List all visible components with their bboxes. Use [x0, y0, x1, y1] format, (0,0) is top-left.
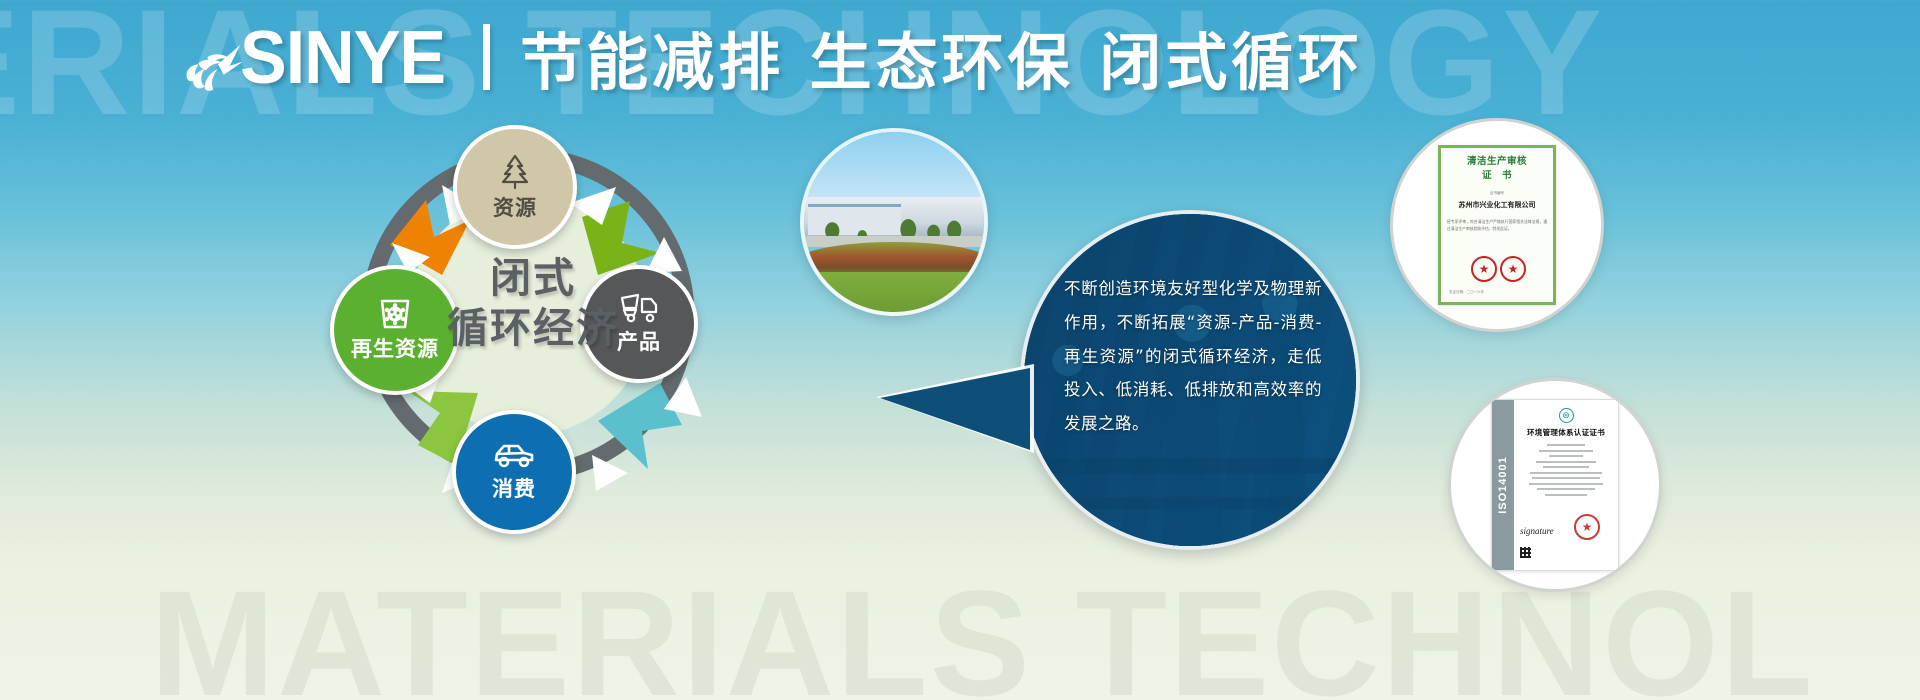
cert1-subtitle: 证书编号: [1447, 191, 1547, 196]
cert2-spine: ISO14001: [1492, 400, 1514, 570]
logo-text: SINYE: [240, 14, 445, 100]
cnas-mark-icon: ⊛: [1559, 408, 1574, 423]
cert1-company: 苏州市兴业化工有限公司: [1447, 200, 1547, 210]
closed-loop-diagram: 资源 产品 消费: [330, 125, 730, 555]
cert1-seal-1: ★: [1471, 256, 1497, 282]
center-line-2: 循环经济: [438, 303, 628, 353]
certificate-clean-production[interactable]: 清洁生产审核 证 书 证书编号 苏州市兴业化工有限公司 经专家评审，符合清洁生产…: [1390, 118, 1604, 332]
node-recycle-label: 再生资源: [351, 333, 439, 363]
cert1-title-line1: 清洁生产审核: [1447, 155, 1547, 169]
cert1-body: 经专家评审，符合清洁生产严格执行国家相关法律法规，通过清洁生产审核验收评估，特发…: [1447, 218, 1547, 232]
cert2-title: 环境管理体系认证证书: [1520, 427, 1612, 438]
cert2-body-lines: [1520, 444, 1612, 496]
node-resource-label: 资源: [493, 192, 537, 222]
photo-lawn: [804, 272, 984, 312]
statement-bubble: 不断创造环境友好型化学及物理新作用，不断拓展“资源-产品-消费-再生资源”的闭式…: [1020, 210, 1360, 550]
car-icon: [491, 441, 537, 471]
cert1-footer: 发证日期：二〇一六年: [1449, 290, 1484, 295]
bubble-tail: [880, 368, 1030, 450]
certificate-iso14001[interactable]: ISO14001 ⊛ 环境管理体系认证证书 signature ★: [1448, 378, 1662, 592]
cert1-paper: 清洁生产审核 证 书 证书编号 苏州市兴业化工有限公司 经专家评审，符合清洁生产…: [1438, 145, 1556, 305]
cert2-main: ⊛ 环境管理体系认证证书 signature ★: [1514, 400, 1618, 570]
headline-slogan: 节能减排 生态环保 闭式循环: [520, 12, 1363, 102]
node-resource[interactable]: 资源: [453, 125, 577, 249]
leaf-splash-icon: [172, 20, 246, 94]
tree-icon: [495, 152, 535, 190]
cert2-seal: ★: [1574, 514, 1600, 540]
logo[interactable]: SINYE: [172, 17, 445, 97]
recycle-bin-icon: [376, 297, 414, 331]
center-line-1: 闭式: [438, 253, 628, 303]
node-consume[interactable]: 消费: [452, 410, 576, 534]
cert2-qr-code: [1520, 547, 1531, 558]
bubble-statement-text: 不断创造环境友好型化学及物理新作用，不断拓展“资源-产品-消费-再生资源”的闭式…: [1064, 272, 1322, 441]
cert2-signature: signature: [1520, 526, 1554, 536]
cert2-paper: ISO14001 ⊛ 环境管理体系认证证书 signature ★: [1491, 399, 1619, 571]
cert1-title-line2: 证 书: [1447, 169, 1547, 183]
header-divider: [483, 24, 490, 90]
cert1-seal-2: ★: [1500, 256, 1526, 282]
factory-campus-photo: [800, 128, 988, 316]
brand-header: SINYE 节能减排 生态环保 闭式循环: [172, 14, 1363, 100]
cert1-seals: ★ ★: [1471, 256, 1526, 282]
diagram-center-text: 闭式 循环经济: [438, 253, 628, 353]
node-consume-label: 消费: [492, 473, 536, 503]
cert2-spine-text: ISO14001: [1497, 456, 1509, 514]
